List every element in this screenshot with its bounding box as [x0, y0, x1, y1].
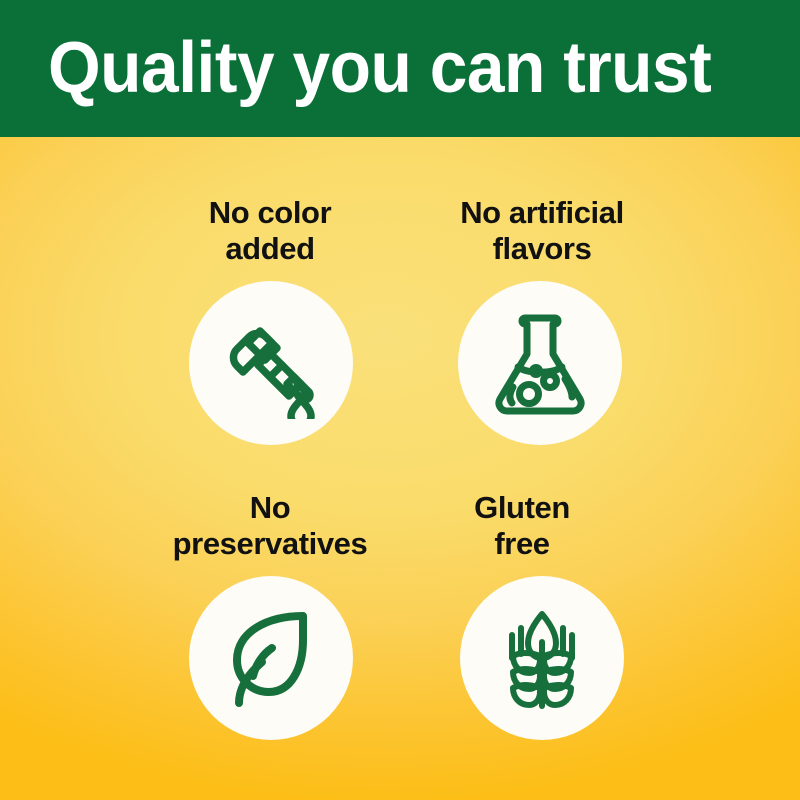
- wheat-icon: [486, 602, 598, 714]
- feature-grid: No color added: [0, 137, 800, 800]
- icon-badge: [189, 281, 353, 445]
- icon-badge: [460, 576, 624, 740]
- page-title: Quality you can trust: [48, 16, 744, 120]
- flask-icon: [484, 307, 596, 419]
- icon-badge: [458, 281, 622, 445]
- header-banner: Quality you can trust: [0, 0, 800, 137]
- icon-badge: [189, 576, 353, 740]
- feature-label: No artificial flavors: [376, 195, 706, 273]
- feature-item-gluten-free: Gluten free: [376, 490, 706, 740]
- leaf-icon: [215, 602, 327, 714]
- dropper-icon: [215, 307, 327, 419]
- promo-infographic: Quality you can trust No color added: [0, 0, 800, 800]
- feature-item-no-artificial-flavors: No artificial flavors: [376, 195, 706, 445]
- feature-label: Gluten free: [376, 490, 706, 568]
